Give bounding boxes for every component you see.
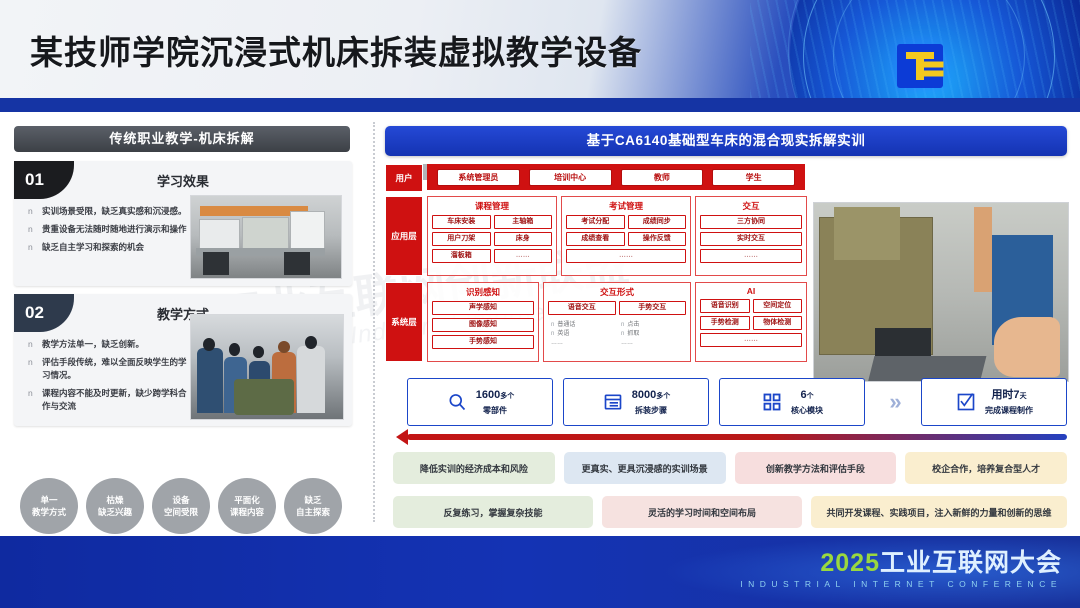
module-cell-more[interactable]: ……: [566, 249, 686, 263]
pain-point-circle: 设备 空间受限: [152, 478, 210, 534]
panel-divider: [373, 122, 375, 522]
left-panel: 传统职业教学-机床拆解 01 学习效果 实训场景受限，缺乏真实感和沉浸感。 贵重…: [14, 126, 364, 526]
module-cell-more[interactable]: ……: [494, 249, 553, 263]
user-role-chip[interactable]: 培训中心: [529, 169, 612, 186]
benefit-tag: 共同开发课程、实践项目，注入新鲜的力量和创新的思维: [811, 496, 1067, 528]
benefit-tag: 更真实、更具沉浸感的实训场景: [564, 452, 726, 484]
sub-item: n抓取: [618, 330, 686, 339]
layer-tag-system: 系统层: [385, 282, 423, 362]
user-role-chip[interactable]: 系统管理员: [437, 169, 520, 186]
user-role-chip[interactable]: 学生: [712, 169, 795, 186]
slide-header: 某技师学院沉浸式机床拆装虚拟教学设备: [0, 0, 1080, 98]
group-heading: 课程管理: [428, 200, 556, 212]
pain-point-circle: 缺乏 自主探索: [284, 478, 342, 534]
stat-value: 用时7天: [991, 389, 1026, 401]
circle-line1: 设备: [172, 494, 189, 506]
module-cell[interactable]: 车床安装: [432, 215, 491, 229]
stat-label: 完成课程制作: [985, 406, 1033, 415]
benefit-tags-row-2: 反复练习，掌握复杂技能 灵活的学习时间和空间布局 共同开发课程、实践项目，注入新…: [393, 496, 1067, 528]
module-cell[interactable]: 实时交互: [700, 232, 802, 246]
circle-line1: 平面化: [234, 494, 260, 506]
stat-label: 核心模块: [791, 406, 823, 415]
arrow-divider: [407, 434, 1067, 440]
right-panel-title: 基于CA6140基础型车床的混合现实拆解实训: [385, 126, 1067, 156]
stat-value: 6个: [800, 389, 813, 401]
circle-line1: 单一: [40, 494, 57, 506]
circle-line2: 空间受限: [164, 506, 198, 518]
module-cell[interactable]: 成绩查看: [566, 232, 625, 246]
group-exam-management: 考试管理 考试分配 成绩同步 成绩查看 操作反馈 ……: [561, 196, 691, 276]
sub-item: n普通话: [548, 321, 616, 330]
benefit-tags-row-1: 降低实训的经济成本和风险 更真实、更具沉浸感的实训场景 创新教学方法和评估手段 …: [393, 452, 1067, 484]
t-logo-icon: [897, 44, 943, 88]
module-cell-more[interactable]: ……: [700, 333, 802, 347]
module-cell[interactable]: 溜板箱: [432, 249, 491, 263]
module-cell[interactable]: 空间定位: [753, 299, 803, 313]
circle-line1: 缺乏: [304, 494, 321, 506]
circle-line2: 课程内容: [230, 506, 264, 518]
module-cell[interactable]: 图像感知: [432, 318, 534, 332]
module-cell[interactable]: 语音识别: [700, 299, 750, 313]
pain-point-circle: 单一 教学方式: [20, 478, 78, 534]
module-cell[interactable]: 手势检测: [700, 316, 750, 330]
conference-name-en: INDUSTRIAL INTERNET CONFERENCE: [740, 579, 1062, 589]
module-cell[interactable]: 语音交互: [548, 301, 616, 315]
slide-root: 某技师学院沉浸式机床拆装虚拟教学设备 工业互联网创新联盟 Alliance of…: [0, 0, 1080, 608]
card-heading: 学习效果: [14, 171, 352, 190]
module-cell[interactable]: 三方协同: [700, 215, 802, 229]
group-ai: AI 语音识别 空间定位 手势检测 物体检测 ……: [695, 282, 807, 362]
page-title: 某技师学院沉浸式机床拆装虚拟教学设备: [30, 26, 642, 74]
module-cell[interactable]: 成绩同步: [628, 215, 687, 229]
checkbox-icon: [955, 391, 977, 413]
list-item: 贵重设备无法随时随地进行演示和操作: [28, 223, 188, 236]
benefit-tag: 降低实训的经济成本和风险: [393, 452, 555, 484]
stat-duration: 用时7天 完成课程制作: [921, 378, 1067, 426]
pain-point-circles: 单一 教学方式 枯燥 缺乏兴趣 设备 空间受限 平面化 课程内容 缺乏 自主: [20, 478, 372, 534]
stats-row: 1600多个 零部件 8000多个 拆装步骤: [407, 378, 1067, 426]
module-cell[interactable]: 操作反馈: [628, 232, 687, 246]
benefit-tag: 灵活的学习时间和空间布局: [602, 496, 802, 528]
module-cell[interactable]: 物体检测: [753, 316, 803, 330]
list-item: 实训场景受限，缺乏真实感和沉浸感。: [28, 205, 188, 218]
module-cell[interactable]: 床身: [494, 232, 553, 246]
circle-line2: 自主探索: [296, 506, 330, 518]
module-cell[interactable]: 用户刀架: [432, 232, 491, 246]
left-panel-title: 传统职业教学-机床拆解: [14, 126, 350, 152]
layer-tag-user: 用户: [385, 164, 423, 192]
conference-name-cn: 工业互联网大会: [880, 549, 1062, 577]
grid-icon: [761, 391, 783, 413]
list-item: 教学方法单一，缺乏创新。: [28, 338, 188, 351]
group-course-management: 课程管理 车床安装 主轴箱 用户刀架 床身 溜板箱 ……: [427, 196, 557, 276]
pain-point-circle: 枯燥 缺乏兴趣: [86, 478, 144, 534]
list-item: 评估手段传统，难以全面反映学生的学习情况。: [28, 356, 188, 382]
slide-body: 工业互联网创新联盟 Alliance of Industrial Interne…: [0, 112, 1080, 536]
lathe-photo: [190, 195, 342, 279]
magnifier-icon: [446, 391, 468, 413]
conference-logo: 2025工业互联网大会 INDUSTRIAL INTERNET CONFEREN…: [740, 550, 1062, 589]
card-bullet-list: 实训场景受限，缺乏真实感和沉浸感。 贵重设备无法随时随地进行演示和操作 缺乏自主…: [28, 205, 188, 259]
conference-year: 2025: [820, 549, 880, 577]
user-role-chip[interactable]: 教师: [621, 169, 704, 186]
stat-value: 8000多个: [632, 389, 670, 401]
students-photo: [190, 314, 344, 420]
group-heading: 考试管理: [562, 200, 690, 212]
stat-label: 零部件: [483, 406, 507, 415]
stat-label: 拆装步骤: [635, 406, 667, 415]
user-role-bar: 系统管理员 培训中心 教师 学生: [427, 164, 805, 190]
group-heading: 交互: [696, 200, 806, 212]
module-cell[interactable]: 手势交互: [619, 301, 687, 315]
stat-parts: 1600多个 零部件: [407, 378, 553, 426]
sub-item: n英语: [548, 330, 616, 339]
stat-steps: 8000多个 拆装步骤: [563, 378, 709, 426]
architecture-diagram: 用户 应用层 系统层 系统管理员 培训中心 教师 学生 课程管理 车床安装 主轴…: [385, 164, 805, 364]
layer-tag-application: 应用层: [385, 196, 423, 276]
module-cell[interactable]: 考试分配: [566, 215, 625, 229]
group-interaction: 交互 三方协同 实时交互 ……: [695, 196, 807, 276]
circle-line1: 枯燥: [106, 494, 123, 506]
benefit-tag: 反复练习，掌握复杂技能: [393, 496, 593, 528]
card-bullet-list: 教学方法单一，缺乏创新。 评估手段传统，难以全面反映学生的学习情况。 课程内容不…: [28, 338, 188, 418]
group-recognition-sensing: 识别感知 声学感知 图像感知 手势感知: [427, 282, 539, 362]
module-cell[interactable]: 主轴箱: [494, 215, 553, 229]
stat-modules: 6个 核心模块: [719, 378, 865, 426]
group-heading: 识别感知: [428, 286, 538, 298]
group-interaction-forms: 交互形式 语音交互 手势交互 n普通话 n英语 …… n点击 n抓取: [543, 282, 691, 362]
list-item: 课程内容不能及时更新，缺少跨学科合作与交流: [28, 387, 188, 413]
module-cell[interactable]: 手势感知: [432, 335, 534, 349]
stat-value: 1600多个: [476, 389, 514, 401]
header-accent-bar: [0, 98, 1080, 112]
sub-item-more: ……: [548, 339, 616, 348]
circle-line2: 缺乏兴趣: [98, 506, 132, 518]
problem-card-01: 01 学习效果 实训场景受限，缺乏真实感和沉浸感。 贵重设备无法随时随地进行演示…: [14, 161, 352, 286]
list-item: 缺乏自主学习和探索的机会: [28, 241, 188, 254]
problem-card-02: 02 教学方式 教学方法单一，缺乏创新。 评估手段传统，难以全面反映学生的学习情…: [14, 294, 352, 426]
sub-item: n点击: [618, 321, 686, 330]
pain-point-circle: 平面化 课程内容: [218, 478, 276, 534]
group-heading: AI: [696, 286, 806, 296]
double-chevron-right-icon: »: [875, 389, 911, 415]
benefit-tag: 创新教学方法和评估手段: [735, 452, 897, 484]
sub-item-more: ……: [618, 339, 686, 348]
module-cell-more[interactable]: ……: [700, 249, 802, 263]
slide-footer: 2025工业互联网大会 INDUSTRIAL INTERNET CONFEREN…: [0, 536, 1080, 608]
list-icon: [602, 391, 624, 413]
benefit-tag: 校企合作，培养复合型人才: [905, 452, 1067, 484]
circle-line2: 教学方式: [32, 506, 66, 518]
mixed-reality-photo: [813, 202, 1069, 382]
right-panel: 基于CA6140基础型车床的混合现实拆解实训 用户 应用层 系统层 系统管理员 …: [385, 126, 1067, 526]
module-cell[interactable]: 声学感知: [432, 301, 534, 315]
group-heading: 交互形式: [544, 286, 690, 298]
